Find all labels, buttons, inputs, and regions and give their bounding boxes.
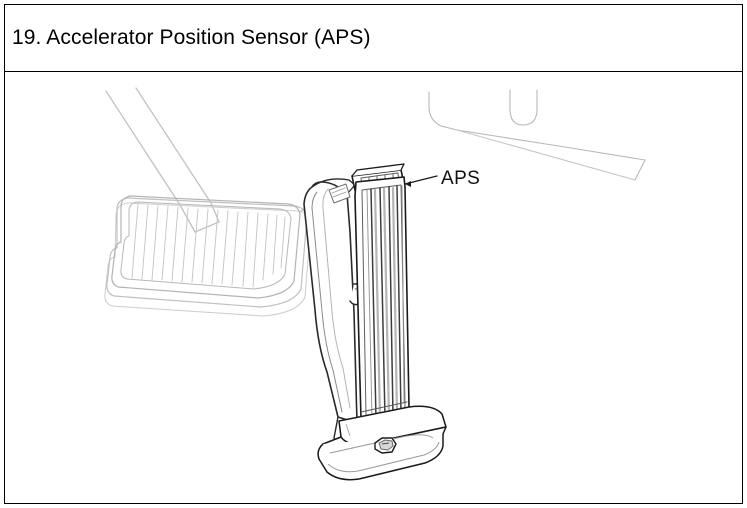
floor-line	[457, 130, 635, 180]
page-title: 19. Accelerator Position Sensor (APS)	[5, 26, 371, 49]
mounting-bolt	[375, 438, 396, 453]
callout-label-aps: APS	[441, 168, 480, 190]
callout-leader-line	[405, 176, 437, 187]
dash-panel-outline	[429, 90, 645, 180]
accelerator-pedal-pad	[355, 177, 409, 429]
screenshot-page: 19. Accelerator Position Sensor (APS)	[0, 0, 747, 508]
document-frame: 19. Accelerator Position Sensor (APS)	[4, 4, 743, 504]
accelerator-pedal-assembly-diagram	[5, 72, 742, 503]
section-header: 19. Accelerator Position Sensor (APS)	[5, 5, 742, 72]
figure-area: APS	[5, 72, 742, 503]
brake-pedal	[105, 192, 316, 316]
brake-pedal-arm	[106, 88, 219, 232]
